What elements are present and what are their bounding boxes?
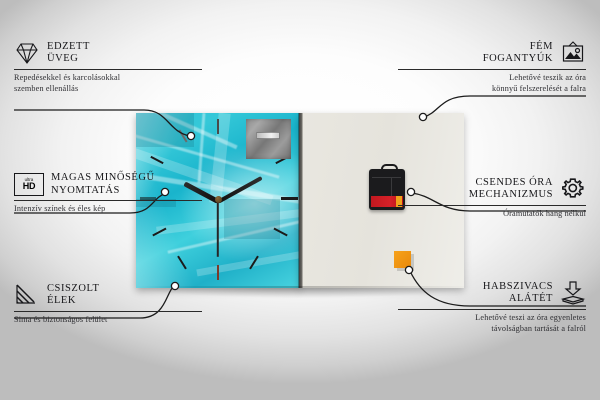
beveled-edge-icon [14, 282, 40, 308]
divider [398, 309, 586, 310]
callout-subtitle: Lehetővé teszi az óra egyenletestávolság… [398, 313, 586, 334]
callout-subtitle: Lehetővé teszik az órakönnyű felszerelés… [398, 73, 586, 94]
callout-subtitle: Óramutatók hang nélkül [398, 209, 586, 220]
gear-icon [560, 176, 586, 202]
callout-foam-pad: HABSZIVACSALÁTÉT Lehetővé teszi az óra e… [398, 280, 586, 334]
callout-tempered-glass: EDZETTÜVEG Repedésekkel és karcolásokkal… [14, 40, 202, 94]
foam-pad-arrow-icon [560, 280, 586, 306]
callout-title: CSISZOLTÉLEK [47, 283, 99, 308]
callout-subtitle: Repedésekkel és karcolásokkalszemben ell… [14, 73, 202, 94]
callout-metal-handles: FÉMFOGANTYÚK Lehetővé teszik az órakönny… [398, 40, 586, 94]
divider [14, 69, 202, 70]
callout-subtitle: Intenzív színek és éles kép [14, 204, 202, 215]
callout-hd-print: ultraHD MAGAS MINŐSÉGŰNYOMTATÁS Intenzív… [14, 172, 202, 215]
callout-title: MAGAS MINŐSÉGŰNYOMTATÁS [51, 172, 155, 197]
divider [14, 200, 202, 201]
infographic-canvas: EDZETTÜVEG Repedésekkel és karcolásokkal… [0, 0, 600, 400]
callout-title: EDZETTÜVEG [47, 41, 90, 66]
diamond-icon [14, 40, 40, 66]
picture-hanger-icon [560, 40, 586, 66]
callout-polished-edges: CSISZOLTÉLEK Sima és biztonságos felület [14, 282, 202, 326]
callout-subtitle: Sima és biztonságos felület [14, 315, 202, 326]
divider [398, 205, 586, 206]
callout-quiet-mechanism: CSENDES ÓRAMECHANIZMUS Óramutatók hang n… [398, 176, 586, 220]
divider [14, 311, 202, 312]
callout-title: FÉMFOGANTYÚK [483, 41, 553, 66]
divider [398, 69, 586, 70]
callout-title: HABSZIVACSALÁTÉT [483, 281, 553, 306]
ultra-hd-icon: ultraHD [14, 173, 44, 196]
callout-title: CSENDES ÓRAMECHANIZMUS [469, 177, 553, 202]
